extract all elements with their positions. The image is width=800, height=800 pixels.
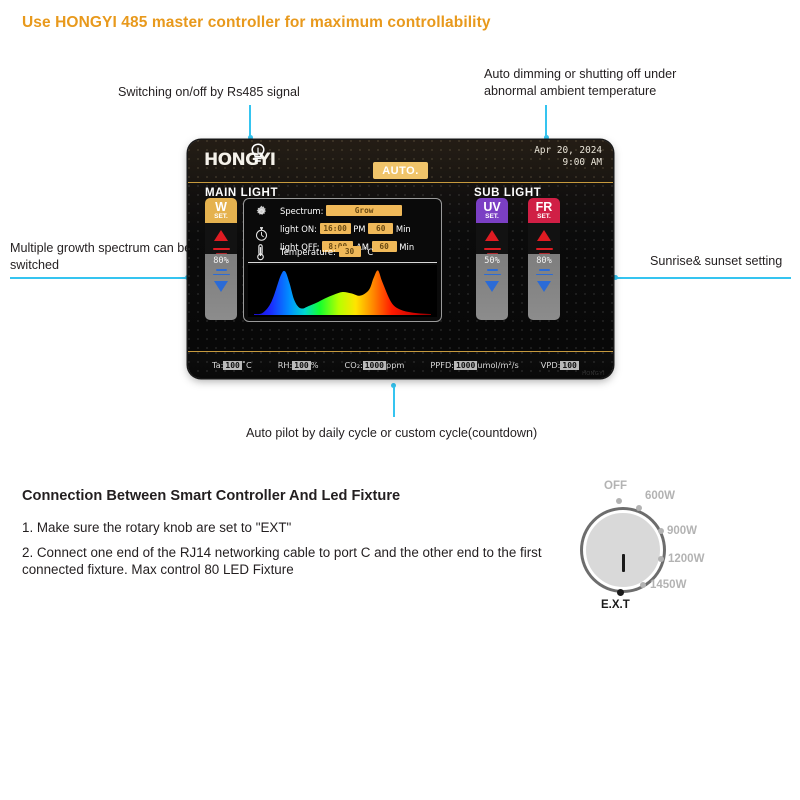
connector-autodim bbox=[545, 105, 547, 137]
connector-switching bbox=[249, 105, 251, 137]
sub-light-slider-uv[interactable]: UV SET. 50% bbox=[476, 198, 508, 320]
uv-set-label: SET. bbox=[485, 213, 499, 221]
light-on-unit: Min bbox=[396, 224, 411, 234]
uv-set-button[interactable]: UV SET. bbox=[476, 198, 508, 223]
status-rh-label: RH: bbox=[278, 360, 293, 370]
knob-dot-600w bbox=[636, 505, 642, 511]
knob-label-900w[interactable]: 900W bbox=[667, 525, 697, 537]
temperature-row: Temperature: 30 ˚C bbox=[280, 246, 373, 257]
arrow-up-icon[interactable] bbox=[214, 230, 228, 241]
status-ppfd-label: PPFD: bbox=[430, 360, 454, 370]
status-co2-label: CO₂: bbox=[345, 360, 363, 370]
connector-autopilot bbox=[393, 385, 395, 417]
connection-title: Connection Between Smart Controller And … bbox=[22, 488, 400, 504]
lightbulb-icon bbox=[248, 142, 268, 166]
rotary-knob[interactable] bbox=[583, 510, 663, 590]
device-watermark: HONGYI bbox=[582, 371, 605, 377]
fr-set-button[interactable]: FR SET. bbox=[528, 198, 560, 223]
knob-dot-off bbox=[616, 498, 622, 504]
main-light-set-button[interactable]: W SET. bbox=[205, 198, 237, 223]
connector-sunrise bbox=[616, 277, 791, 279]
status-ta: Ta:100˚C bbox=[212, 360, 252, 370]
fr-channel: FR bbox=[536, 201, 553, 213]
main-slider-percent: 80% bbox=[205, 256, 237, 266]
timer-icon bbox=[254, 225, 269, 243]
arrow-down-icon[interactable] bbox=[537, 281, 551, 292]
device-date: Apr 20, 2024 bbox=[534, 145, 602, 157]
status-rh: RH:100% bbox=[278, 360, 319, 370]
callout-sunrise-sunset: Sunrise& sunset setting bbox=[650, 253, 800, 270]
light-on-label: light ON: bbox=[280, 224, 317, 234]
controller-device: HONGYI Apr 20, 2024 9:00 AM AUTO. MAIN L… bbox=[188, 140, 613, 378]
knob-dot-ext bbox=[617, 589, 624, 596]
thermometer-icon bbox=[254, 243, 267, 261]
page-title: Use HONGYI 485 master controller for max… bbox=[22, 14, 722, 32]
light-on-minutes[interactable]: 60 bbox=[368, 223, 393, 234]
knob-label-off[interactable]: OFF bbox=[604, 480, 627, 492]
status-co2: CO₂:1000ppm bbox=[345, 360, 405, 370]
callout-multiple-spectrum: Multiple growth spectrum can be switched bbox=[10, 240, 200, 273]
device-datetime: Apr 20, 2024 9:00 AM bbox=[534, 145, 602, 169]
spectrum-value[interactable]: Grow bbox=[326, 205, 402, 216]
status-ta-value: 100 bbox=[223, 361, 241, 370]
temperature-value[interactable]: 30 bbox=[339, 246, 361, 257]
connector-dot-autopilot bbox=[391, 383, 396, 388]
temperature-label: Temperature: bbox=[280, 247, 336, 257]
temperature-unit: ˚C bbox=[363, 247, 373, 257]
light-off-minutes[interactable]: 60 bbox=[372, 241, 397, 252]
knob-dot-1200w bbox=[658, 556, 664, 562]
light-on-time[interactable]: 16:00 bbox=[320, 223, 351, 234]
gear-icon bbox=[254, 204, 269, 219]
status-rh-value: 100 bbox=[292, 361, 310, 370]
device-time: 9:00 AM bbox=[534, 157, 602, 169]
fr-set-label: SET. bbox=[537, 213, 551, 221]
arrow-up-icon[interactable] bbox=[537, 230, 551, 241]
arrow-down-icon[interactable] bbox=[485, 281, 499, 292]
light-on-row: light ON: 16:00 PM 60 Min bbox=[280, 223, 411, 234]
knob-dot-900w bbox=[658, 528, 664, 534]
callout-switching: Switching on/off by Rs485 signal bbox=[118, 84, 378, 101]
status-ta-label: Ta: bbox=[212, 360, 223, 370]
knob-pointer-icon bbox=[622, 554, 625, 572]
sensor-status-bar: Ta:100˚C RH:100% CO₂:1000ppm PPFD:1000um… bbox=[188, 351, 613, 378]
main-slider-channel: W bbox=[215, 201, 227, 213]
status-co2-value: 1000 bbox=[363, 361, 386, 370]
knob-label-1200w[interactable]: 1200W bbox=[668, 553, 704, 565]
status-ppfd-value: 1000 bbox=[454, 361, 477, 370]
status-vpd: VPD:100 bbox=[541, 360, 579, 370]
sub-light-slider-fr[interactable]: FR SET. 80% bbox=[528, 198, 560, 320]
knob-label-600w[interactable]: 600W bbox=[645, 490, 675, 502]
status-vpd-value: 100 bbox=[560, 361, 578, 370]
main-slider-set-label: SET. bbox=[214, 213, 228, 221]
spectrum-row: Spectrum: Grow bbox=[280, 205, 402, 216]
connector-dot-sunrise bbox=[613, 275, 618, 280]
main-light-settings-panel: Spectrum: Grow light ON: 16:00 PM 60 Min… bbox=[243, 198, 442, 322]
auto-mode-button[interactable]: AUTO. bbox=[373, 162, 428, 179]
knob-dot-1450w bbox=[640, 582, 646, 588]
main-light-slider[interactable]: W SET. 80% bbox=[205, 198, 237, 320]
rotary-knob-diagram: OFF 600W 900W 1200W 1450W E.X.T bbox=[575, 478, 755, 618]
spectrum-chart bbox=[248, 265, 437, 317]
status-ppfd-unit: umol/m²/s bbox=[477, 360, 519, 370]
spectrum-label: Spectrum: bbox=[280, 206, 323, 216]
uv-channel: UV bbox=[483, 201, 500, 213]
status-co2-unit: ppm bbox=[386, 360, 404, 370]
status-ta-unit: ˚C bbox=[242, 360, 252, 370]
callout-auto-pilot: Auto pilot by daily cycle or custom cycl… bbox=[246, 425, 576, 442]
arrow-down-icon[interactable] bbox=[214, 281, 228, 292]
status-vpd-label: VPD: bbox=[541, 360, 561, 370]
arrow-up-icon[interactable] bbox=[485, 230, 499, 241]
callout-auto-dimming: Auto dimming or shutting off under abnor… bbox=[484, 66, 714, 99]
knob-label-1450w[interactable]: 1450W bbox=[650, 579, 686, 591]
uv-percent: 50% bbox=[476, 256, 508, 266]
status-ppfd: PPFD:1000umol/m²/s bbox=[430, 360, 518, 370]
connection-step-2: 2. Connect one end of the RJ14 networkin… bbox=[22, 544, 572, 578]
light-off-unit: Min bbox=[399, 242, 414, 252]
connection-step-1: 1. Make sure the rotary knob are set to … bbox=[22, 519, 562, 536]
panel-divider bbox=[248, 262, 437, 263]
knob-label-ext[interactable]: E.X.T bbox=[601, 599, 630, 611]
status-rh-unit: % bbox=[311, 360, 319, 370]
light-on-meridiem: PM bbox=[353, 224, 365, 234]
connector-spectrum bbox=[10, 277, 190, 279]
fr-percent: 80% bbox=[528, 256, 560, 266]
